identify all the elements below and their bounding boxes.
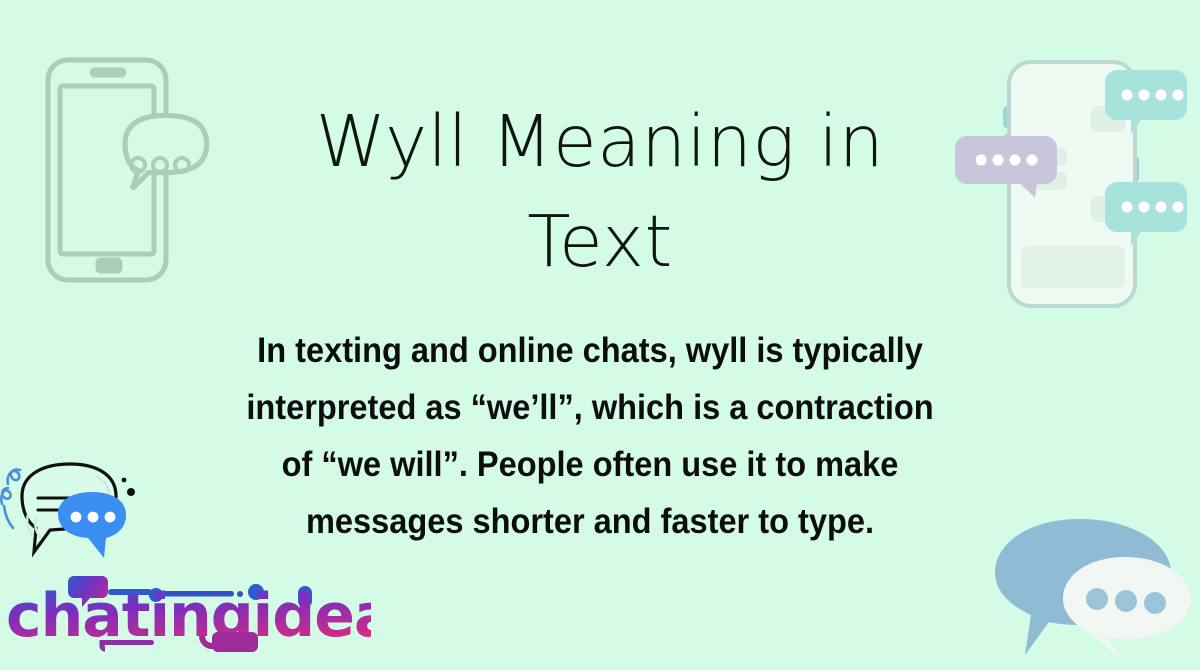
brand-logo[interactable]: chatingidea: [0, 452, 375, 652]
logo-wordmark-text: chatingidea: [6, 581, 371, 651]
page-title-line-1: Wyll Meaning in: [190, 92, 1010, 192]
logo-speech-bubble-mark: [0, 452, 150, 577]
page-title-line-2: Text: [190, 192, 1010, 292]
body-line-1: In texting and online chats, wyll is typ…: [190, 322, 990, 379]
logo-filled-bubble: [58, 492, 126, 558]
doodle-squiggles: [1, 470, 20, 528]
poster-canvas: Wyll Meaning in Text In texting and onli…: [0, 0, 1200, 670]
front-bubble: [1063, 557, 1191, 665]
logo-wordmark-svg: chatingidea: [6, 574, 371, 652]
logo-bubble-icon: [0, 452, 150, 577]
page-title: Wyll Meaning in Text: [190, 92, 1010, 292]
logo-wordmark: chatingidea: [6, 574, 371, 652]
body-line-2: interpreted as “we’ll”, which is a contr…: [190, 379, 990, 436]
